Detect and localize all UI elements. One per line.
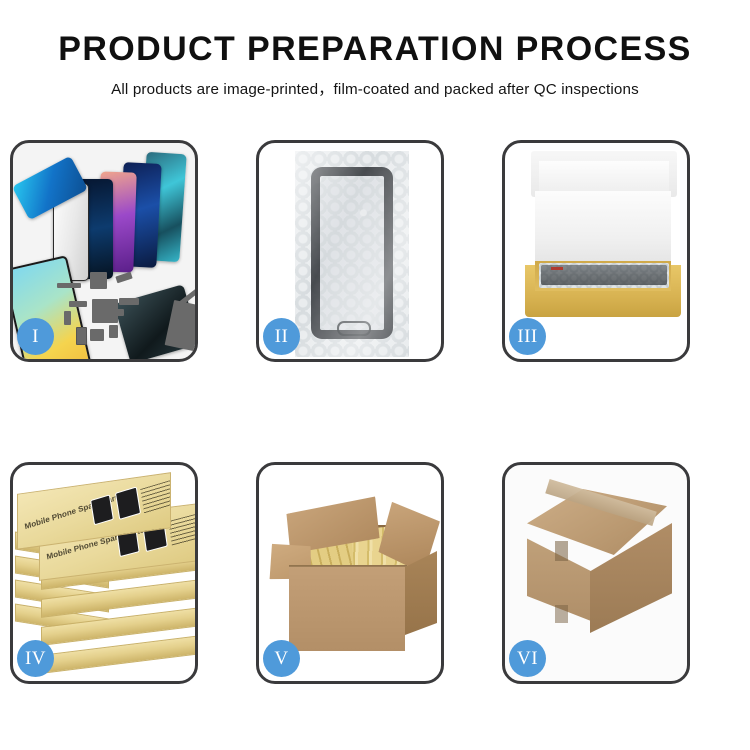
page-title: PRODUCT PREPARATION PROCESS — [0, 32, 750, 68]
button-part-icon — [64, 311, 71, 325]
step-badge-5: V — [263, 640, 300, 677]
foam-padding — [535, 191, 671, 269]
carton-front-face — [289, 567, 405, 651]
box-spec-text — [140, 476, 171, 514]
carton-seam-upper — [555, 541, 568, 561]
process-step-1: I — [10, 140, 198, 362]
carton-seam-lower — [555, 605, 568, 623]
step-badge-2: II — [263, 318, 300, 355]
sim-tray-icon — [112, 309, 124, 316]
screw-icon — [183, 343, 188, 348]
page-subtitle: All products are image-printed，film-coat… — [0, 77, 750, 99]
flex-cable-b-icon — [119, 298, 139, 305]
process-step-2: II — [256, 140, 444, 362]
phone-screen-outline — [311, 167, 393, 339]
process-step-6: VI — [502, 462, 690, 684]
box-spec-text — [168, 510, 195, 547]
process-step-grid: I II III — [10, 140, 740, 684]
step-badge-3: III — [509, 318, 546, 355]
coil-part-icon — [90, 272, 107, 289]
battery-part-icon — [109, 325, 118, 338]
camera-part-icon — [76, 327, 87, 345]
red-label-mark — [551, 267, 563, 270]
process-step-3: III — [502, 140, 690, 362]
box-thumbnail — [90, 494, 114, 525]
screw-icon — [189, 335, 194, 340]
speaker-part-icon — [90, 329, 104, 341]
step-badge-1: I — [17, 318, 54, 355]
process-step-4: Mobile Phone Spare Parts Mobile Phone Sp… — [10, 462, 198, 684]
process-step-5: V — [256, 462, 444, 684]
flex-cable-a-icon — [115, 272, 132, 284]
flex-cable-c-icon — [69, 301, 87, 307]
step-badge-4: IV — [17, 640, 54, 677]
home-button-outline — [337, 321, 371, 336]
step-badge-6: VI — [509, 640, 546, 677]
strip-part-icon — [57, 283, 81, 288]
page-header: PRODUCT PREPARATION PROCESS All products… — [0, 0, 750, 99]
box-thumbnail — [115, 486, 141, 520]
